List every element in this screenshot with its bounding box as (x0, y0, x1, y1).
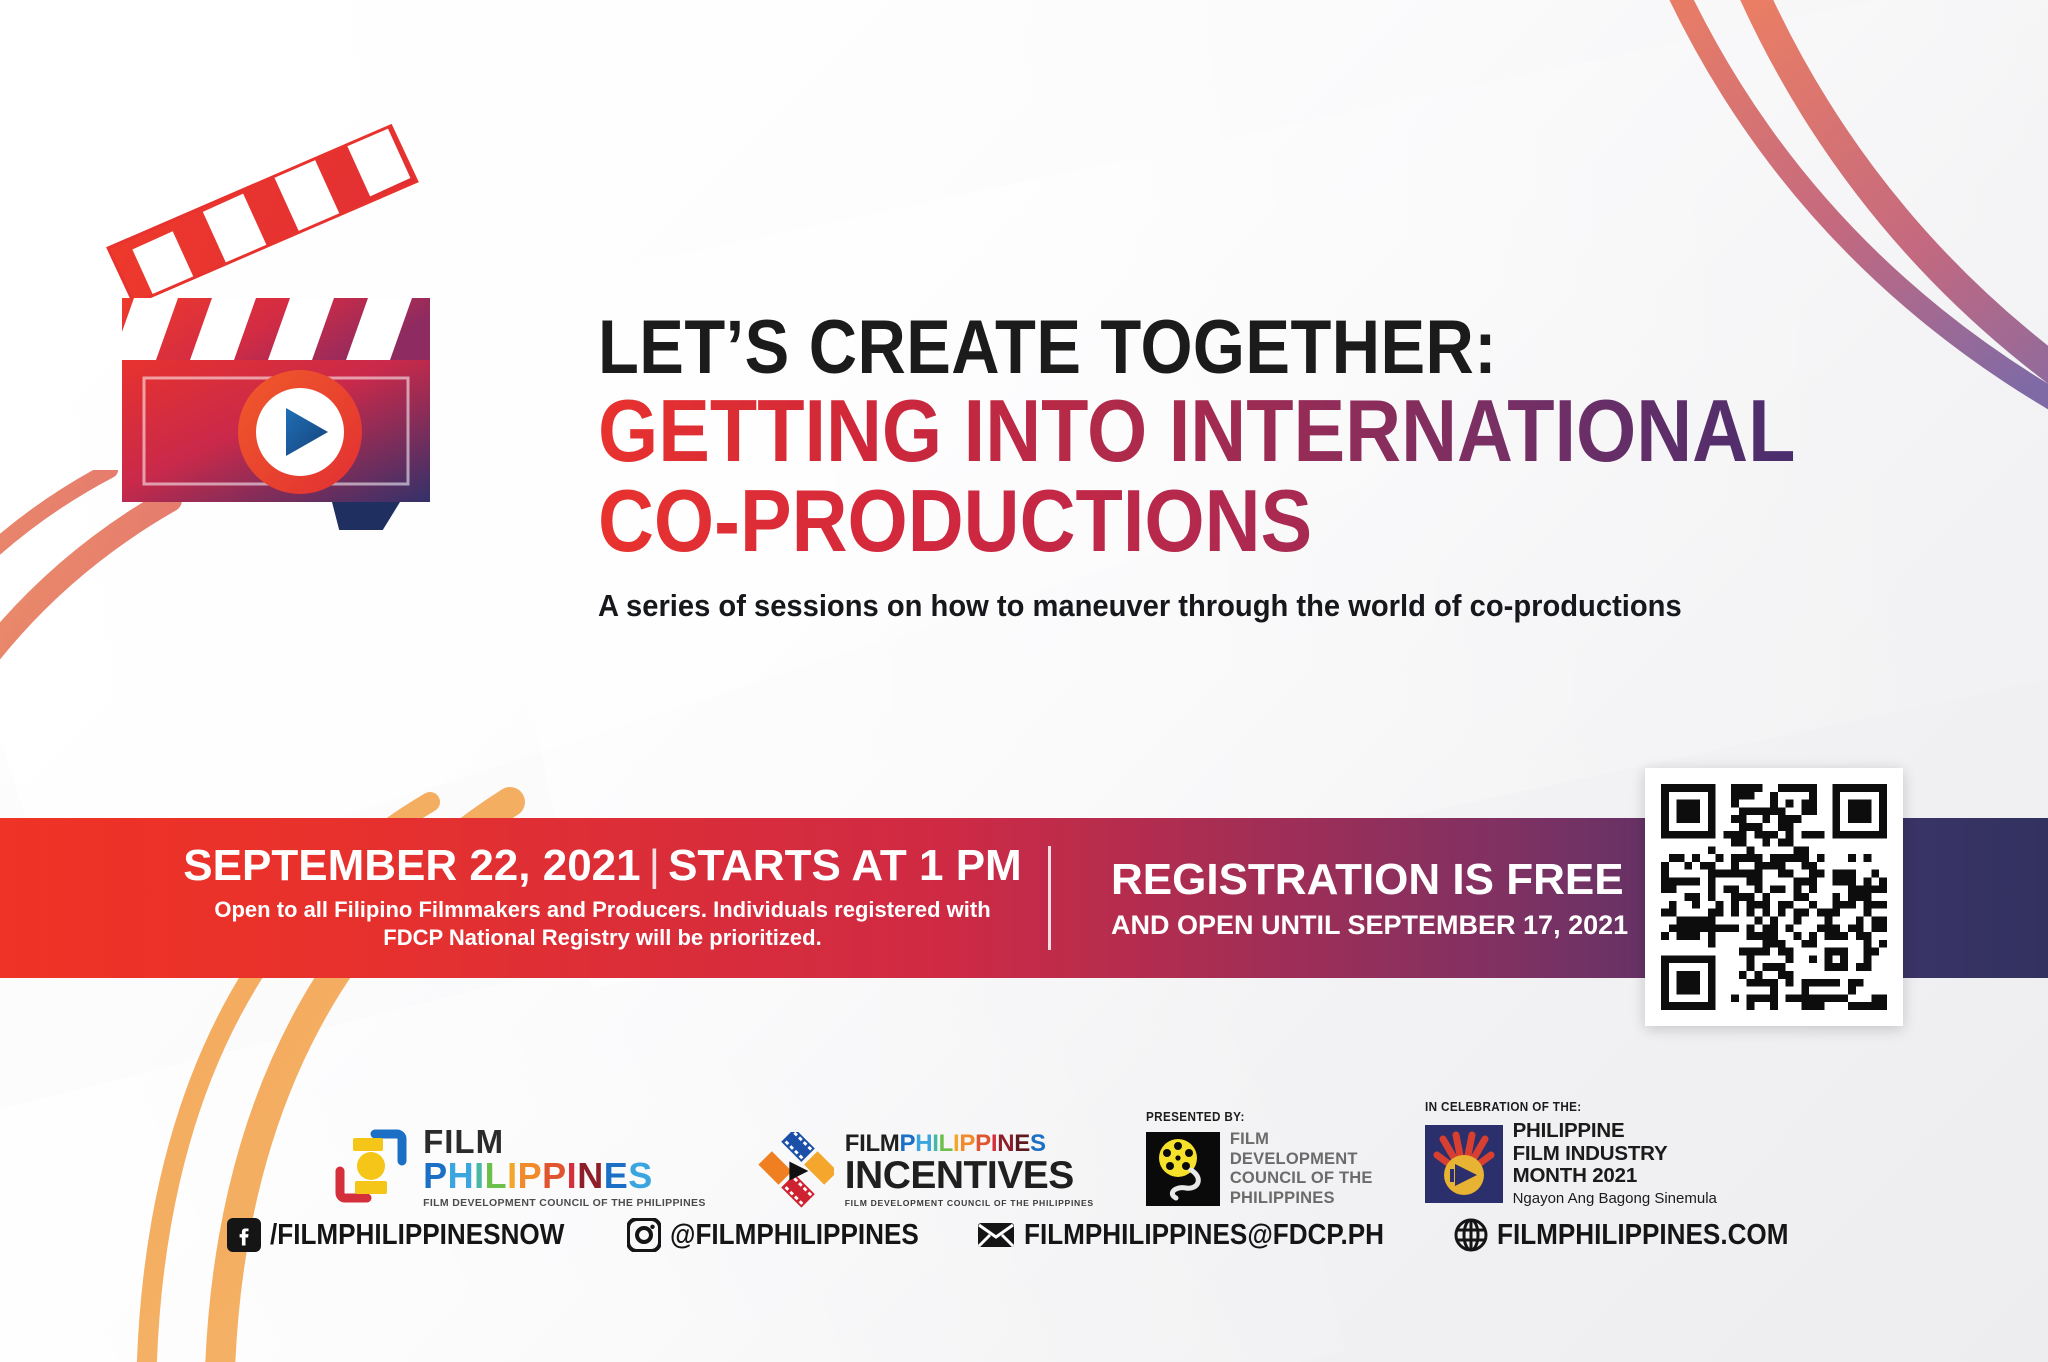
registration-subline: AND OPEN UNTIL SEPTEMBER 17, 2021 (1111, 912, 1628, 939)
film-philippines-word-philippines: PHILIPPINES (423, 1158, 706, 1194)
fdcp-name-line-1: FILM (1230, 1130, 1373, 1149)
event-time: STARTS AT 1 PM (668, 841, 1022, 890)
headline-subtitle: A series of sessions on how to maneuver … (598, 588, 1876, 624)
event-datetime: SEPTEMBER 22, 2021|STARTS AT 1 PM (165, 844, 1040, 888)
facebook-icon[interactable] (227, 1218, 261, 1252)
headline-line-2: GETTING INTO INTERNATIONAL (598, 386, 1795, 476)
pfim-kicker: IN CELEBRATION OF THE: (1425, 1099, 1688, 1114)
headline-block: LET’S CREATE TOGETHER: GETTING INTO INTE… (598, 310, 1958, 624)
film-philippines-mark-icon (331, 1126, 411, 1206)
headline-line-3: CO-PRODUCTIONS (598, 476, 1795, 566)
social-link-instagram[interactable]: @FILMPHILIPPINES (627, 1218, 946, 1252)
instagram-handle[interactable]: @FILMPHILIPPINES (670, 1219, 919, 1252)
logo-fdcp: PRESENTED BY: FILM DEVEL (1146, 1109, 1373, 1208)
incentives-word-film: FILM (845, 1132, 900, 1156)
website-url[interactable]: FILMPHILIPPINES.COM (1497, 1219, 1788, 1252)
banner-right-column: REGISTRATION IS FREE AND OPEN UNTIL SEPT… (1051, 858, 1628, 939)
social-link-facebook[interactable]: /FILMPHILIPPINESNOW (227, 1218, 597, 1252)
globe-icon[interactable] (1454, 1218, 1488, 1252)
datetime-separator: | (641, 841, 668, 890)
fdcp-name-line-3: COUNCIL OF THE (1230, 1169, 1373, 1188)
pfim-emblem-icon (1425, 1125, 1503, 1203)
facebook-handle[interactable]: /FILMPHILIPPINESNOW (270, 1219, 564, 1252)
social-link-email[interactable]: FILMPHILIPPINES@FDCP.PH (977, 1219, 1424, 1252)
logo-filmphilippines-incentives: FILMPHILIPPINES INCENTIVES FILM DEVELOPM… (758, 1132, 1094, 1208)
registration-headline: REGISTRATION IS FREE (1111, 858, 1628, 902)
social-link-website[interactable]: FILMPHILIPPINES.COM (1454, 1218, 1821, 1252)
incentives-word-philippines: PHILIPPINES (900, 1132, 1046, 1156)
fdcp-name-line-2: DEVELOPMENT (1230, 1150, 1373, 1169)
email-icon[interactable] (977, 1221, 1015, 1249)
qr-code-canvas[interactable] (1661, 784, 1887, 1010)
poster-canvas: LET’S CREATE TOGETHER: GETTING INTO INTE… (0, 0, 2048, 1362)
eligibility-note: Open to all Filipino Filmmakers and Prod… (165, 896, 1040, 952)
headline-line-1: LET’S CREATE TOGETHER: (598, 310, 1795, 386)
fdcp-film-reel-icon (1146, 1132, 1220, 1206)
film-philippines-word-film: FILM (423, 1125, 706, 1158)
pfim-name-line-3: MONTH 2021 (1513, 1165, 1717, 1188)
instagram-icon[interactable] (627, 1218, 661, 1252)
banner-left-column: SEPTEMBER 22, 2021|STARTS AT 1 PM Open t… (0, 844, 1040, 952)
partner-logo-strip: FILM PHILIPPINES FILM DEVELOPMENT COUNCI… (0, 1078, 2048, 1208)
pfim-name-line-2: FILM INDUSTRY (1513, 1143, 1717, 1166)
incentives-mark-icon (758, 1132, 834, 1208)
pfim-name-line-1: PHILIPPINE (1513, 1120, 1717, 1143)
logo-film-philippines: FILM PHILIPPINES FILM DEVELOPMENT COUNCI… (331, 1125, 706, 1209)
event-date: SEPTEMBER 22, 2021 (183, 841, 640, 890)
incentives-word-incentives: INCENTIVES (845, 1156, 1094, 1195)
eligibility-line-2: FDCP National Registry will be prioritiz… (165, 924, 1040, 952)
qr-code[interactable] (1645, 768, 1903, 1026)
eligibility-line-1: Open to all Filipino Filmmakers and Prod… (165, 896, 1040, 924)
fdcp-kicker: PRESENTED BY: (1146, 1109, 1350, 1124)
social-links-row: /FILMPHILIPPINESNOW @FILMPHILIPPINES FIL… (0, 1205, 2048, 1265)
logo-philippine-film-industry-month: IN CELEBRATION OF THE: (1425, 1099, 1717, 1208)
fdcp-name: FILM DEVELOPMENT COUNCIL OF THE PHILIPPI… (1230, 1130, 1373, 1208)
incentives-wordmark-top: FILMPHILIPPINES (845, 1132, 1094, 1156)
email-address[interactable]: FILMPHILIPPINES@FDCP.PH (1024, 1219, 1384, 1252)
clapperboard-icon (100, 110, 540, 530)
